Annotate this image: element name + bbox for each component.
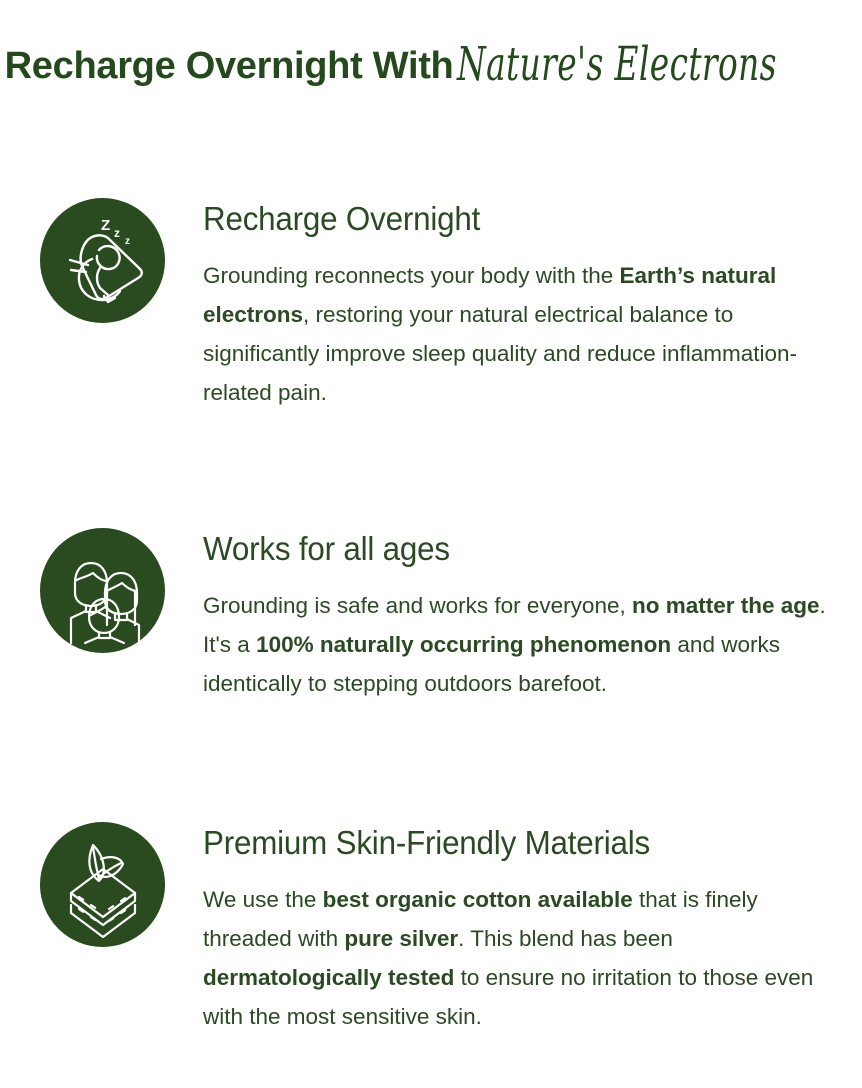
text-emphasis: 100% naturally occurring phenomenon — [256, 632, 671, 657]
text-emphasis: dermatologically tested — [203, 965, 454, 990]
feature-heading: Works for all ages — [203, 530, 808, 568]
page-title: Recharge Overnight WithNature's Electron… — [0, 35, 862, 94]
text-run: Grounding is safe and works for everyone… — [203, 593, 632, 618]
family-group-icon — [40, 528, 165, 653]
feature-item: Premium Skin-Friendly Materials We use t… — [40, 822, 840, 1036]
feature-text: We use the best organic cotton available… — [203, 880, 835, 1036]
feature-item: Z z z Recharge Overnight Grounding recon… — [40, 198, 840, 412]
feature-body: Recharge Overnight Grounding reconnects … — [203, 198, 840, 412]
feature-text: Grounding is safe and works for everyone… — [203, 586, 835, 703]
feature-body: Premium Skin-Friendly Materials We use t… — [203, 822, 840, 1036]
feature-text: Grounding reconnects your body with the … — [203, 256, 835, 412]
page-title-bold-part: Recharge Overnight With — [5, 45, 454, 87]
text-emphasis: best organic cotton available — [323, 887, 633, 912]
sleeping-person-icon: Z z z — [40, 198, 165, 323]
layered-fabric-leaves-icon — [40, 822, 165, 947]
svg-text:z: z — [125, 236, 130, 247]
page-title-script-part: Nature's Electrons — [457, 31, 777, 97]
feature-section: Recharge Overnight WithNature's Electron… — [0, 0, 862, 1088]
text-run: . This blend has been — [458, 926, 673, 951]
text-run: We use the — [203, 887, 323, 912]
svg-text:z: z — [114, 226, 120, 240]
feature-item: Works for all ages Grounding is safe and… — [40, 528, 840, 703]
svg-text:Z: Z — [101, 217, 110, 234]
feature-heading: Premium Skin-Friendly Materials — [203, 824, 808, 862]
text-emphasis: pure silver — [344, 926, 458, 951]
text-run: Grounding reconnects your body with the — [203, 263, 620, 288]
feature-body: Works for all ages Grounding is safe and… — [203, 528, 840, 703]
text-emphasis: no matter the age — [632, 593, 820, 618]
feature-heading: Recharge Overnight — [203, 200, 808, 238]
